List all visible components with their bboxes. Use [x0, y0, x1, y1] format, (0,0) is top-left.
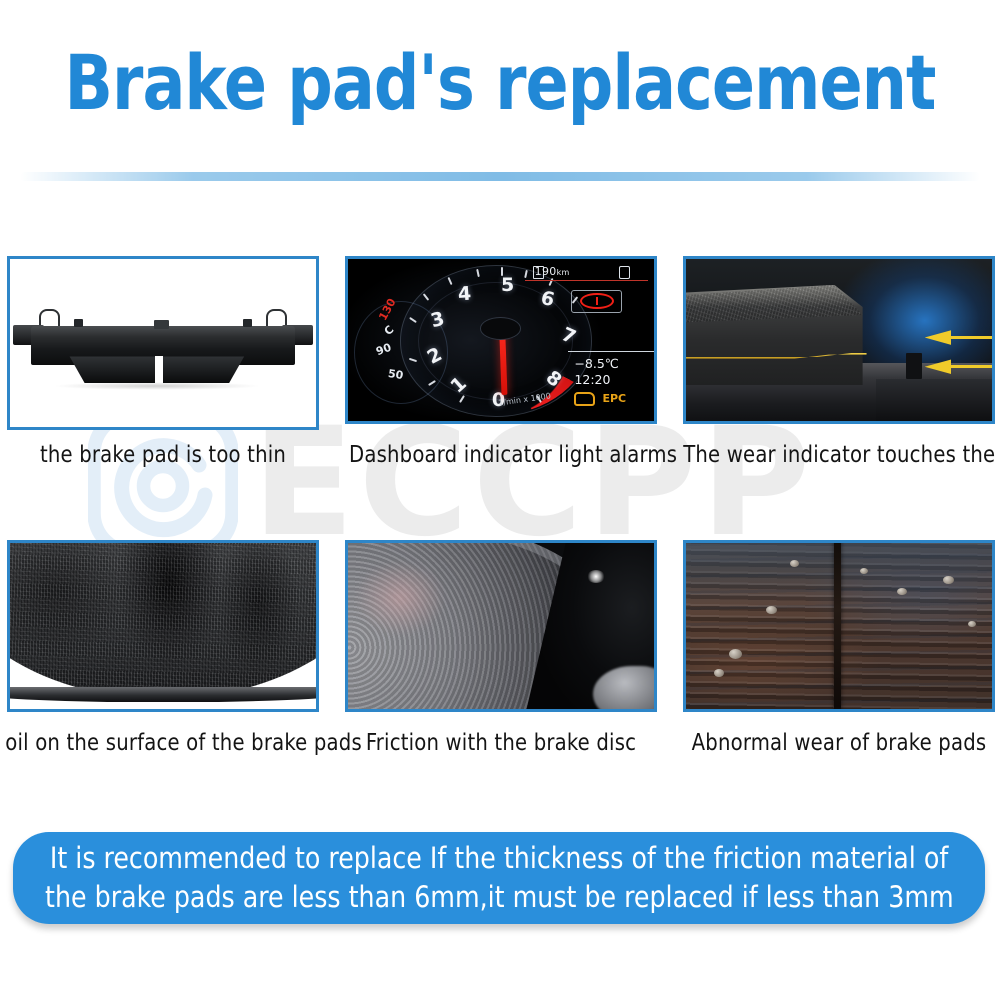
outside-temperature: −8.5℃	[574, 356, 618, 371]
recommendation-banner: It is recommended to replace If the thic…	[13, 832, 985, 924]
arrow-icon	[925, 359, 992, 374]
cell-caption: Abnormal wear of brake pads	[691, 730, 987, 756]
cell-caption: oil on the surface of the brake pads	[5, 730, 319, 756]
header-divider	[20, 172, 980, 181]
cell-caption: the brake pad is too thin	[15, 442, 311, 468]
cell-brake-pad-too-thin: the brake pad is too thin	[7, 256, 319, 466]
banner-line-1: It is recommended to replace If the thic…	[50, 839, 948, 878]
photo-frame	[683, 540, 995, 712]
cell-wear-indicator: The wear indicator touches the brake rot…	[683, 256, 995, 466]
photo-brake-pad-too-thin	[10, 259, 316, 427]
photo-abnormal-wear	[686, 543, 992, 709]
cell-dashboard-indicator: 130 C 90 50 0 1 2 3 4 5 6 7 8	[345, 256, 657, 466]
clock-readout: 12:20	[574, 372, 610, 387]
cell-caption: The wear indicator touches the brake rot…	[683, 442, 995, 468]
photo-frame	[683, 256, 995, 424]
photo-frame	[7, 256, 319, 430]
cell-oil-on-surface: oil on the surface of the brake pads	[7, 540, 319, 770]
cell-friction-brake-disc: Friction with the brake disc	[345, 540, 657, 770]
photo-brake-disc	[348, 543, 654, 709]
arrow-icon	[925, 330, 992, 345]
photo-wear-indicator	[686, 259, 992, 421]
cell-caption: Dashboard indicator light alarms	[349, 442, 653, 468]
banner-line-2: the brake pads are less than 6mm,it must…	[45, 878, 954, 917]
page-title: Brake pad's replacement	[35, 38, 965, 127]
range-readout: 190km	[535, 265, 570, 278]
photo-frame	[345, 540, 657, 712]
lock-icon	[619, 266, 630, 279]
brake-warning-icon	[571, 290, 622, 313]
cell-caption: Friction with the brake disc	[353, 730, 649, 756]
engine-check-icon	[574, 392, 595, 406]
epc-icon: EPC	[602, 392, 626, 405]
photo-dashboard-cluster: 130 C 90 50 0 1 2 3 4 5 6 7 8	[348, 259, 654, 421]
cell-abnormal-wear: Abnormal wear of brake pads	[683, 540, 995, 770]
photo-frame	[7, 540, 319, 712]
photo-oily-pad-surface	[10, 543, 316, 709]
photo-frame: 130 C 90 50 0 1 2 3 4 5 6 7 8	[345, 256, 657, 424]
